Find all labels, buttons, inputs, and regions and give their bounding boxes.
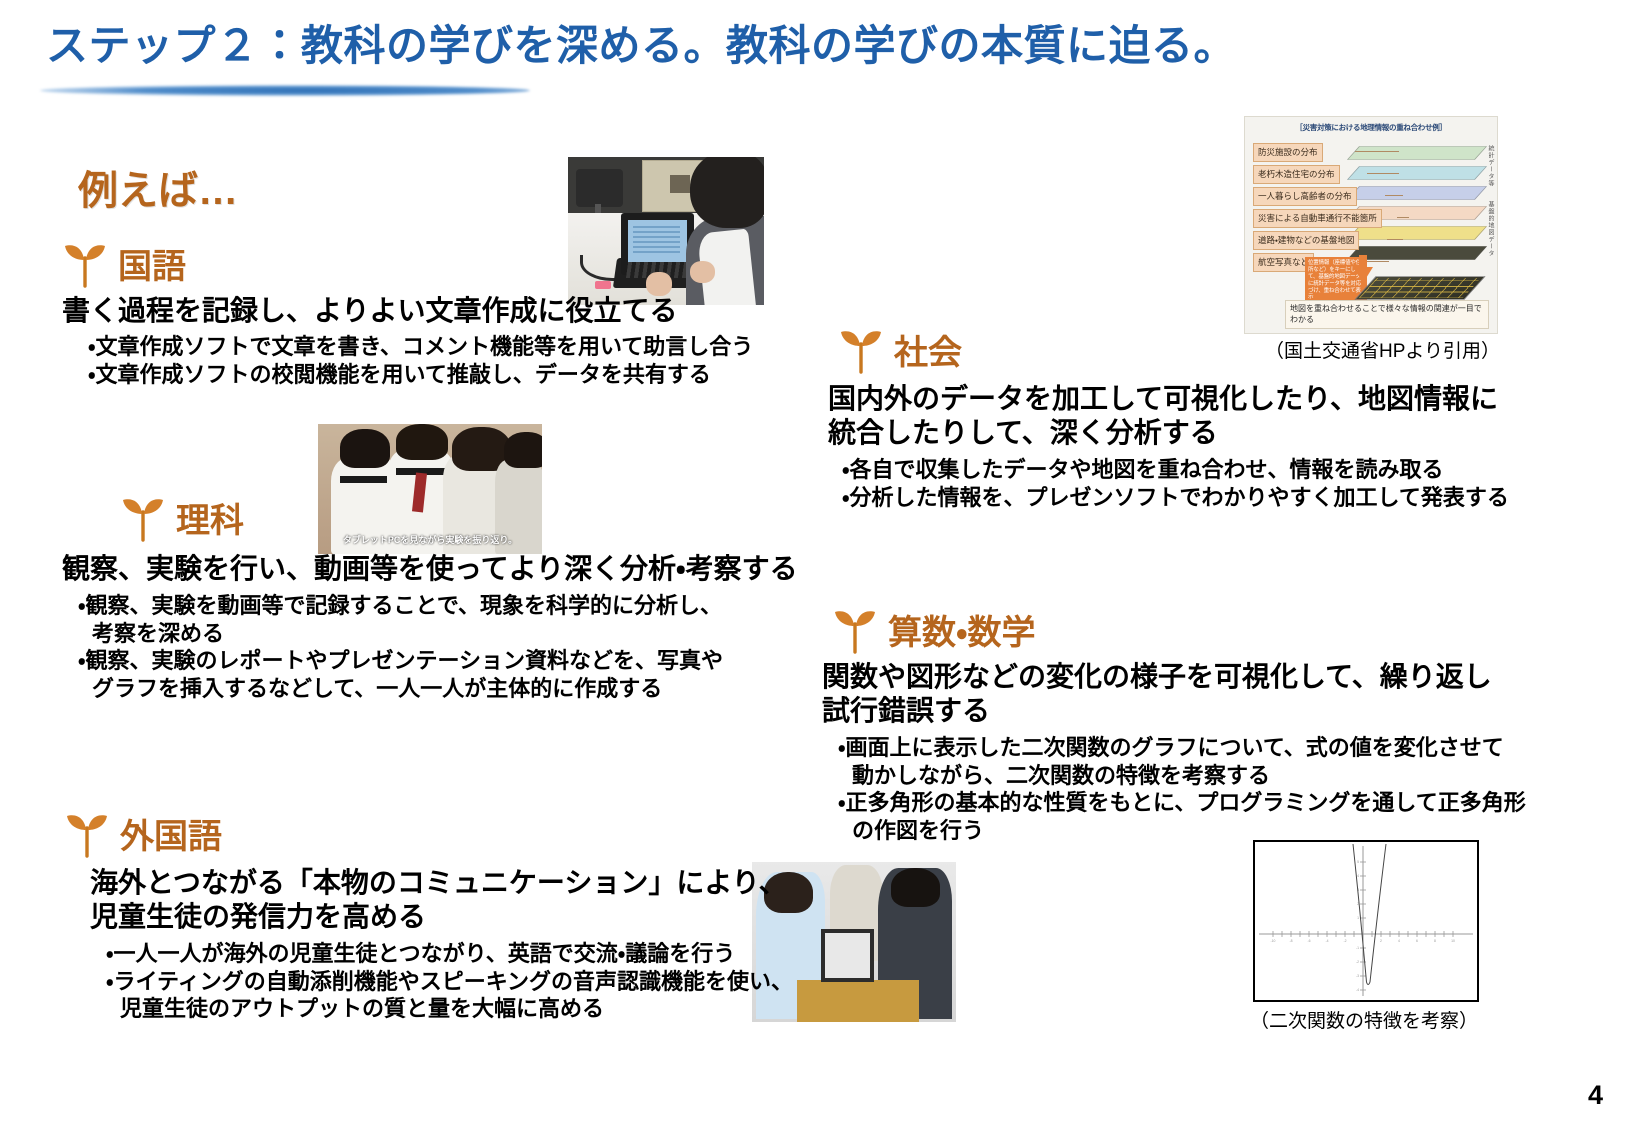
bullet-item: ・文章作成ソフトで文章を書き、コメント機能等を用いて助言し合う [88,333,762,361]
page-number: 4 [1588,1080,1603,1111]
gis-plane [1347,186,1487,199]
subject-name-shakai: 社会 [894,325,962,374]
subject-name-gaikokugo: 外国語 [120,809,222,858]
bullet-item: ・文章作成ソフトの校閲機能を用いて推敲し、データを共有する [88,361,762,389]
subject-lead-line: 試行錯誤する [822,694,1582,728]
gis-layer-stack [1343,135,1491,255]
page-title: ステップ２：教科の学びを深める。教科の学びの本質に迫る。 [46,12,1236,73]
subject-lead-gaikokugo: 海外とつながる「本物のコミュニケーション」により、 児童生徒の発信力を高める [90,866,764,934]
gis-leader-line [1385,195,1403,196]
gis-plane [1347,246,1487,259]
subject-name-rika: 理科 [176,493,244,542]
subject-block-rika: 理科 観察、実験を行い、動画等を使ってより深く分析・考察する ・観察、実験を動画… [62,492,852,702]
svg-text:10: 10 [1451,939,1455,943]
svg-text:5: 5 [1357,860,1359,864]
subject-lead-line: 関数や図形などの変化の様子を可視化して、繰り返し [822,660,1582,694]
gis-diagram-title: ［災害対策における地理情報の重ね合わせ例］ [1245,122,1497,133]
gis-layer-diagram: ［災害対策における地理情報の重ね合わせ例］ 防災施設の分布 老朽木造住宅の分布 … [1244,116,1498,334]
svg-text:6: 6 [1416,939,1418,943]
bullet-item-continuation: 児童生徒のアウトプットの質と量を大幅に高める [120,995,764,1023]
title-underline-decoration [40,80,530,102]
svg-text:-10: -10 [1271,939,1276,943]
quadratic-function-graph: -10-8 -6-4 -2 24 68 10 54 32 1 -1-2 -3-4 [1253,840,1479,1002]
svg-text:-2: -2 [1356,960,1359,964]
bullet-item: ・一人一人が海外の児童生徒とつながり、英語で交流・議論を行う [106,940,764,968]
slide-root: ステップ２：教科の学びを深める。教科の学びの本質に迫る。 例えば… [0,0,1625,1125]
svg-text:-1: -1 [1356,946,1359,950]
subject-bullets-gaikokugo: ・一人一人が海外の児童生徒とつながり、英語で交流・議論を行う ・ライティングの自… [106,940,764,1023]
gis-leader-line [1397,217,1409,218]
subject-header-gaikokugo: 外国語 [64,808,764,858]
intro-label: 例えば… [78,158,238,216]
subject-header-kokugo: 国語 [62,238,762,288]
bullet-item: ・各自で収集したデータや地図を重ね合わせ、情報を読み取る [842,456,1528,484]
subject-lead-shakai: 国内外のデータを加工して可視化したり、地図情報に 統合したりして、深く分析する [828,382,1528,450]
subject-name-kokugo: 国語 [118,239,186,288]
bullet-item: ・分析した情報を、プレゼンソフトでわかりやすく加工して発表する [842,484,1528,512]
bullet-item: ・観察、実験を動画等で記録することで、現象を科学的に分析し、 [78,592,852,620]
subject-bullets-sansu-sugaku: ・画面上に表示した二次関数のグラフについて、式の値を変化させて 動かしながら、二… [838,734,1582,844]
svg-text:-4: -4 [1356,988,1359,992]
gis-label: 一人暮らし高齢者の分布 [1253,187,1357,206]
svg-text:2: 2 [1380,939,1382,943]
subject-block-shakai: 社会 国内外のデータを加工して可視化したり、地図情報に 統合したりして、深く分析… [828,324,1528,511]
subject-name-sansu-sugaku: 算数・数学 [888,605,1036,654]
subject-lead-line: 児童生徒の発信力を高める [90,900,764,934]
graph-caption: （二次関数の特徴を考察） [1238,1006,1490,1033]
sprout-icon [120,492,166,542]
subject-block-gaikokugo: 外国語 海外とつながる「本物のコミュニケーション」により、 児童生徒の発信力を高… [64,808,764,1023]
gis-label: 老朽木造住宅の分布 [1253,165,1340,184]
bullet-item: ・画面上に表示した二次関数のグラフについて、式の値を変化させて [838,734,1582,762]
gis-side-label-basemap: 基盤的地図データ [1486,201,1495,257]
bullet-item: ・正多角形の基本的な性質をもとに、プログラミングを通して正多角形 [838,789,1582,817]
gis-label: 防災施設の分布 [1253,143,1323,162]
svg-text:-8: -8 [1289,939,1292,943]
svg-text:1: 1 [1357,916,1359,920]
sprout-icon [64,808,110,858]
bullet-item: ・ライティングの自動添削機能やスピーキングの音声認識機能を使い、 [106,968,764,996]
subject-lead-kokugo: 書く過程を記録し、よりよい文章作成に役立てる [62,294,762,328]
svg-text:8: 8 [1434,939,1436,943]
subject-bullets-kokugo: ・文章作成ソフトで文章を書き、コメント機能等を用いて助言し合う ・文章作成ソフト… [88,333,762,388]
bullet-item-continuation: 考察を深める [92,620,852,648]
gis-leader-line [1355,151,1399,152]
sprout-icon [832,604,878,654]
subject-header-sansu-sugaku: 算数・数学 [832,604,1582,654]
gis-label: 道路・建物などの基盤地図 [1253,231,1359,250]
bullet-item-continuation: 動かしながら、二次関数の特徴を考察する [852,762,1582,790]
subject-block-kokugo: 国語 書く過程を記録し、よりよい文章作成に役立てる ・文章作成ソフトで文章を書き… [62,238,762,388]
gis-label: 災害による自動車通行不能箇所 [1253,209,1382,228]
svg-text:4: 4 [1398,939,1400,943]
svg-text:4: 4 [1357,874,1359,878]
title-swoosh-shape [40,85,530,96]
subject-block-sansu-sugaku: 算数・数学 関数や図形などの変化の様子を可視化して、繰り返し 試行錯誤する ・画… [822,604,1582,844]
subject-bullets-shakai: ・各自で収集したデータや地図を重ね合わせ、情報を読み取る ・分析した情報を、プレ… [842,456,1528,511]
subject-header-shakai: 社会 [838,324,1528,374]
svg-text:-2: -2 [1343,939,1346,943]
svg-text:-4: -4 [1325,939,1328,943]
subject-header-rika: 理科 [120,492,852,542]
subject-bullets-rika: ・観察、実験を動画等で記録することで、現象を科学的に分析し、 考察を深める ・観… [78,592,852,702]
bullet-item-continuation: グラフを挿入するなどして、一人一人が主体的に作成する [92,675,852,703]
gis-leader-line [1387,239,1403,240]
subject-lead-sansu-sugaku: 関数や図形などの変化の様子を可視化して、繰り返し 試行錯誤する [822,660,1582,728]
svg-text:-6: -6 [1307,939,1310,943]
subject-lead-line: 国内外のデータを加工して可視化したり、地図情報に [828,382,1528,416]
gis-side-label-statistics: 統計データ等 [1486,145,1495,187]
gis-plane [1347,146,1487,159]
graph-svg: -10-8 -6-4 -2 24 68 10 54 32 1 -1-2 -3-4 [1255,842,1477,1000]
subject-lead-line: 海外とつながる「本物のコミュニケーション」により、 [90,866,764,900]
subject-lead-line: 統合したりして、深く分析する [828,416,1528,450]
gis-plane [1347,226,1487,239]
svg-text:-3: -3 [1356,974,1359,978]
gis-leader-line [1367,173,1399,174]
gis-merged-map [1354,276,1485,300]
sprout-icon [838,324,884,374]
bullet-item: ・観察、実験のレポートやプレゼンテーション資料などを、写真や [78,647,852,675]
subject-lead-rika: 観察、実験を行い、動画等を使ってより深く分析・考察する [62,552,852,586]
sprout-icon [62,238,108,288]
